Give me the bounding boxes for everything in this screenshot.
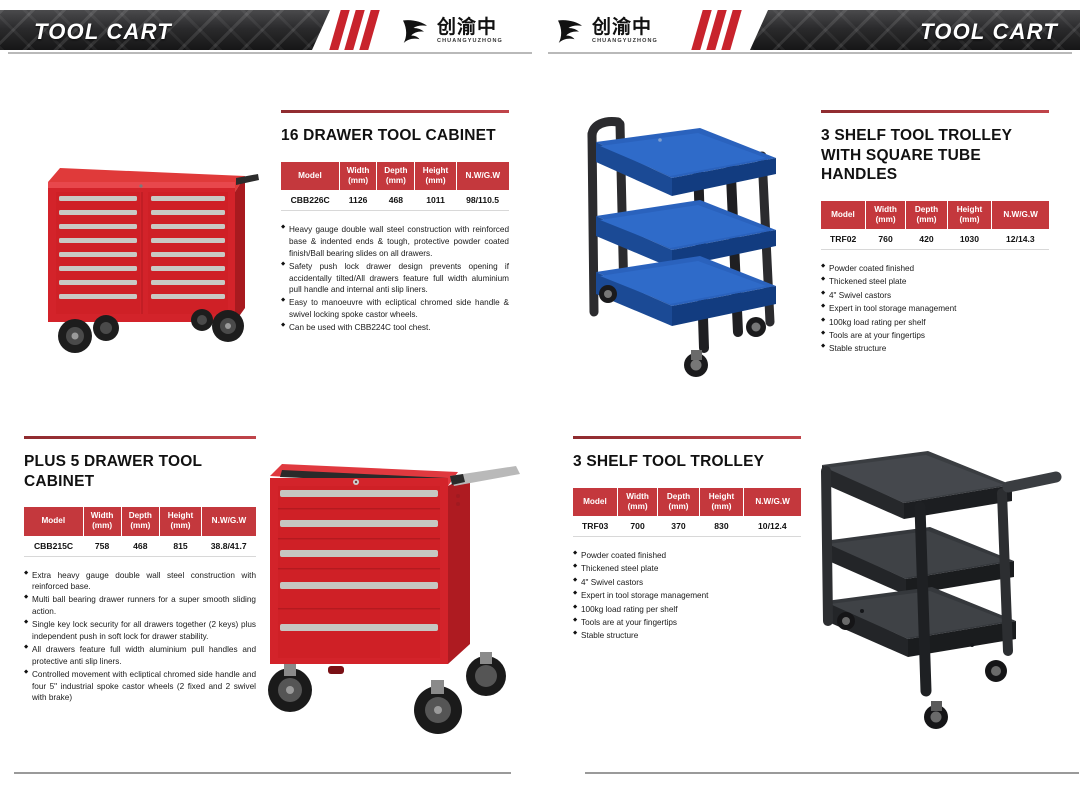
- feature-list: Heavy gauge double wall steel constructi…: [281, 224, 509, 334]
- table-header-row: Model Width(mm) Depth(mm) Height(mm) N.W…: [281, 162, 509, 191]
- list-item: All drawers feature full width aluminium…: [24, 644, 256, 668]
- cell-depth: 370: [658, 516, 699, 537]
- col-height: Height(mm): [699, 488, 744, 517]
- col-width: Width(mm): [865, 201, 906, 230]
- brand-logo: 创渝中 CHUANGYUZHONG: [400, 14, 503, 48]
- product-image-3-shelf-tool-trolley-square-tube: [580, 112, 815, 402]
- list-item: 4" Swivel castors: [573, 577, 801, 589]
- list-item: Easy to manoeuvre with ecliptical chrome…: [281, 297, 509, 321]
- cell-height: 1011: [415, 190, 456, 211]
- cell-model: TRF03: [573, 516, 617, 537]
- product-block-3-shelf-tool-trolley-square-tube: 3 SHELF TOOL TROLLEY WITH SQUARE TUBE HA…: [821, 110, 1049, 357]
- product-title: 16 DRAWER TOOL CABINET: [281, 126, 509, 146]
- list-item: Single key lock security for all drawers…: [24, 619, 256, 643]
- cell-weight: 10/12.4: [744, 516, 801, 537]
- header-divider: [8, 52, 532, 54]
- cell-height: 830: [699, 516, 744, 537]
- table-header-row: Model Width(mm) Depth(mm) Height(mm) N.W…: [821, 201, 1049, 230]
- list-item: Heavy gauge double wall steel constructi…: [281, 224, 509, 260]
- header-divider: [548, 52, 1072, 54]
- col-weight: N.W/G.W: [744, 488, 801, 517]
- list-item: Thickened steel plate: [821, 276, 1049, 288]
- bird-logo-icon: [555, 16, 585, 46]
- cell-model: CBB226C: [281, 190, 339, 211]
- page-header-right: TOOL CART 创渝中 CHUANGYUZHONG: [540, 10, 1080, 50]
- col-depth: Depth(mm): [906, 201, 947, 230]
- list-item: Extra heavy gauge double wall steel cons…: [24, 570, 256, 594]
- table-row: TRF03 700 370 830 10/12.4: [573, 516, 801, 537]
- col-model: Model: [821, 201, 865, 230]
- catalog-page-left: TOOL CART 创渝中 CHUANGYUZHONG: [0, 0, 540, 809]
- cell-width: 700: [617, 516, 658, 537]
- col-width: Width(mm): [83, 507, 121, 536]
- col-model: Model: [281, 162, 339, 191]
- list-item: Tools are at your fingertips: [821, 330, 1049, 342]
- bird-logo-icon: [400, 16, 430, 46]
- list-item: Tools are at your fingertips: [573, 617, 801, 629]
- list-item: 4" Swivel castors: [821, 290, 1049, 302]
- list-item: Expert in tool storage management: [573, 590, 801, 602]
- brand-logo: 创渝中 CHUANGYUZHONG: [555, 14, 658, 48]
- col-weight: N.W/G.W: [201, 507, 256, 536]
- cell-model: CBB215C: [24, 536, 83, 557]
- col-weight: N.W/G.W: [456, 162, 509, 191]
- logo-latin-text: CHUANGYUZHONG: [437, 39, 503, 45]
- spec-table: Model Width(mm) Depth(mm) Height(mm) N.W…: [821, 201, 1049, 251]
- feature-list: Powder coated finished Thickened steel p…: [821, 263, 1049, 355]
- cell-width: 1126: [339, 190, 376, 211]
- table-header-row: Model Width(mm) Depth(mm) Height(mm) N.W…: [24, 507, 256, 536]
- accent-rule: [573, 436, 801, 439]
- page-header-left: TOOL CART 创渝中 CHUANGYUZHONG: [0, 10, 540, 50]
- cell-height: 815: [160, 536, 202, 557]
- catalog-page-right: TOOL CART 创渝中 CHUANGYUZHONG: [540, 0, 1080, 809]
- product-title: 3 SHELF TOOL TROLLEY WITH SQUARE TUBE HA…: [821, 126, 1049, 185]
- col-height: Height(mm): [415, 162, 456, 191]
- list-item: Stable structure: [573, 630, 801, 642]
- spec-table: Model Width(mm) Depth(mm) Height(mm) N.W…: [281, 162, 509, 212]
- cell-model: TRF02: [821, 229, 865, 250]
- list-item: Thickened steel plate: [573, 563, 801, 575]
- product-image-16-drawer-tool-cabinet: [30, 140, 260, 365]
- list-item: 100kg load rating per shelf: [573, 604, 801, 616]
- footer-divider: [14, 772, 511, 774]
- cell-weight: 38.8/41.7: [201, 536, 256, 557]
- logo-chinese-text: 创渝中: [592, 18, 658, 37]
- banner-title: TOOL CART: [34, 19, 172, 45]
- col-width: Width(mm): [339, 162, 376, 191]
- product-title: PLUS 5 DRAWER TOOL CABINET: [24, 452, 256, 491]
- product-block-plus-5-drawer-tool-cabinet: PLUS 5 DRAWER TOOL CABINET Model Width(m…: [24, 436, 256, 705]
- cell-depth: 420: [906, 229, 947, 250]
- list-item: Powder coated finished: [573, 550, 801, 562]
- table-header-row: Model Width(mm) Depth(mm) Height(mm) N.W…: [573, 488, 801, 517]
- spec-table: Model Width(mm) Depth(mm) Height(mm) N.W…: [573, 488, 801, 538]
- product-title: 3 SHELF TOOL TROLLEY: [573, 452, 801, 472]
- cell-weight: 12/14.3: [992, 229, 1049, 250]
- cell-width: 758: [83, 536, 121, 557]
- col-depth: Depth(mm): [377, 162, 415, 191]
- cell-width: 760: [865, 229, 906, 250]
- col-model: Model: [24, 507, 83, 536]
- col-height: Height(mm): [160, 507, 202, 536]
- accent-rule: [24, 436, 256, 439]
- product-image-plus-5-drawer-tool-cabinet: [258, 448, 533, 738]
- table-row: CBB215C 758 468 815 38.8/41.7: [24, 536, 256, 557]
- spec-table: Model Width(mm) Depth(mm) Height(mm) N.W…: [24, 507, 256, 557]
- col-model: Model: [573, 488, 617, 517]
- red-stripes-decoration: [333, 10, 385, 50]
- list-item: Safety push lock drawer design prevents …: [281, 261, 509, 297]
- list-item: Multi ball bearing drawer runners for a …: [24, 594, 256, 618]
- list-item: Controlled movement with ecliptical chro…: [24, 669, 256, 705]
- col-weight: N.W/G.W: [992, 201, 1049, 230]
- col-depth: Depth(mm): [121, 507, 160, 536]
- table-row: CBB226C 1126 468 1011 98/110.5: [281, 190, 509, 211]
- cell-height: 1030: [947, 229, 992, 250]
- red-stripes-decoration: [695, 10, 747, 50]
- product-block-3-shelf-tool-trolley: 3 SHELF TOOL TROLLEY Model Width(mm) Dep…: [573, 436, 801, 644]
- banner-title: TOOL CART: [920, 19, 1058, 45]
- cell-depth: 468: [121, 536, 160, 557]
- cell-depth: 468: [377, 190, 415, 211]
- accent-rule: [821, 110, 1049, 113]
- product-image-3-shelf-tool-trolley: [812, 445, 1080, 745]
- logo-latin-text: CHUANGYUZHONG: [592, 39, 658, 45]
- feature-list: Powder coated finished Thickened steel p…: [573, 550, 801, 642]
- product-block-16-drawer-tool-cabinet: 16 DRAWER TOOL CABINET Model Width(mm) D…: [281, 110, 509, 335]
- list-item: Powder coated finished: [821, 263, 1049, 275]
- list-item: Stable structure: [821, 343, 1049, 355]
- logo-chinese-text: 创渝中: [437, 18, 503, 37]
- col-width: Width(mm): [617, 488, 658, 517]
- list-item: Expert in tool storage management: [821, 303, 1049, 315]
- list-item: 100kg load rating per shelf: [821, 317, 1049, 329]
- feature-list: Extra heavy gauge double wall steel cons…: [24, 570, 256, 705]
- footer-divider: [585, 772, 1079, 774]
- cell-weight: 98/110.5: [456, 190, 509, 211]
- col-depth: Depth(mm): [658, 488, 699, 517]
- table-row: TRF02 760 420 1030 12/14.3: [821, 229, 1049, 250]
- col-height: Height(mm): [947, 201, 992, 230]
- list-item: Can be used with CBB224C tool chest.: [281, 322, 509, 334]
- accent-rule: [281, 110, 509, 113]
